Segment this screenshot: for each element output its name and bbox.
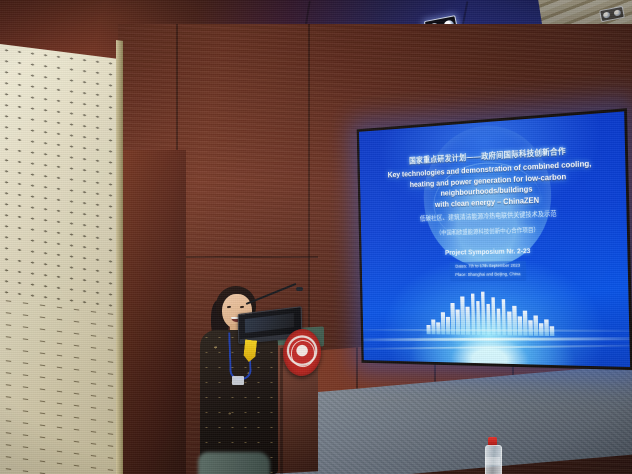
acoustic-wall-panel (0, 44, 122, 474)
microphone-head-icon (296, 287, 303, 291)
skyline-building (523, 311, 528, 336)
skyline-building (534, 316, 538, 336)
conference-photo: 国家重点研发计划——政府间国际科技创新合作 Key technologies a… (0, 0, 632, 474)
wood-column (120, 150, 186, 474)
slide-meta-place: Place: Shanghai and Beijing, China (455, 271, 520, 280)
skyline-building (528, 320, 532, 335)
foreground-chair (198, 452, 270, 474)
acoustic-perforations-lower (0, 294, 122, 474)
name-badge (232, 376, 244, 385)
skyline-building (441, 312, 445, 334)
skyline-building (507, 312, 511, 336)
acoustic-perforations-upper (0, 44, 122, 309)
light-ray (359, 344, 630, 350)
slide-surface: 国家重点研发计划——政府间国际科技创新合作 Key technologies a… (359, 111, 630, 367)
skyline-building (446, 317, 450, 335)
bottle-label (485, 457, 500, 465)
led-presentation-screen[interactable]: 国家重点研发计划——政府间国际科技创新合作 Key technologies a… (357, 108, 632, 370)
water-bottle (485, 437, 500, 474)
skyline-building (545, 319, 549, 335)
acoustic-panel-edge (116, 40, 123, 474)
light-ray (359, 337, 630, 341)
skyline-building (431, 320, 435, 335)
slide-meta-box: Dates: 7th to 17th September 2023 Place:… (449, 261, 526, 281)
skyline-building (518, 316, 522, 335)
